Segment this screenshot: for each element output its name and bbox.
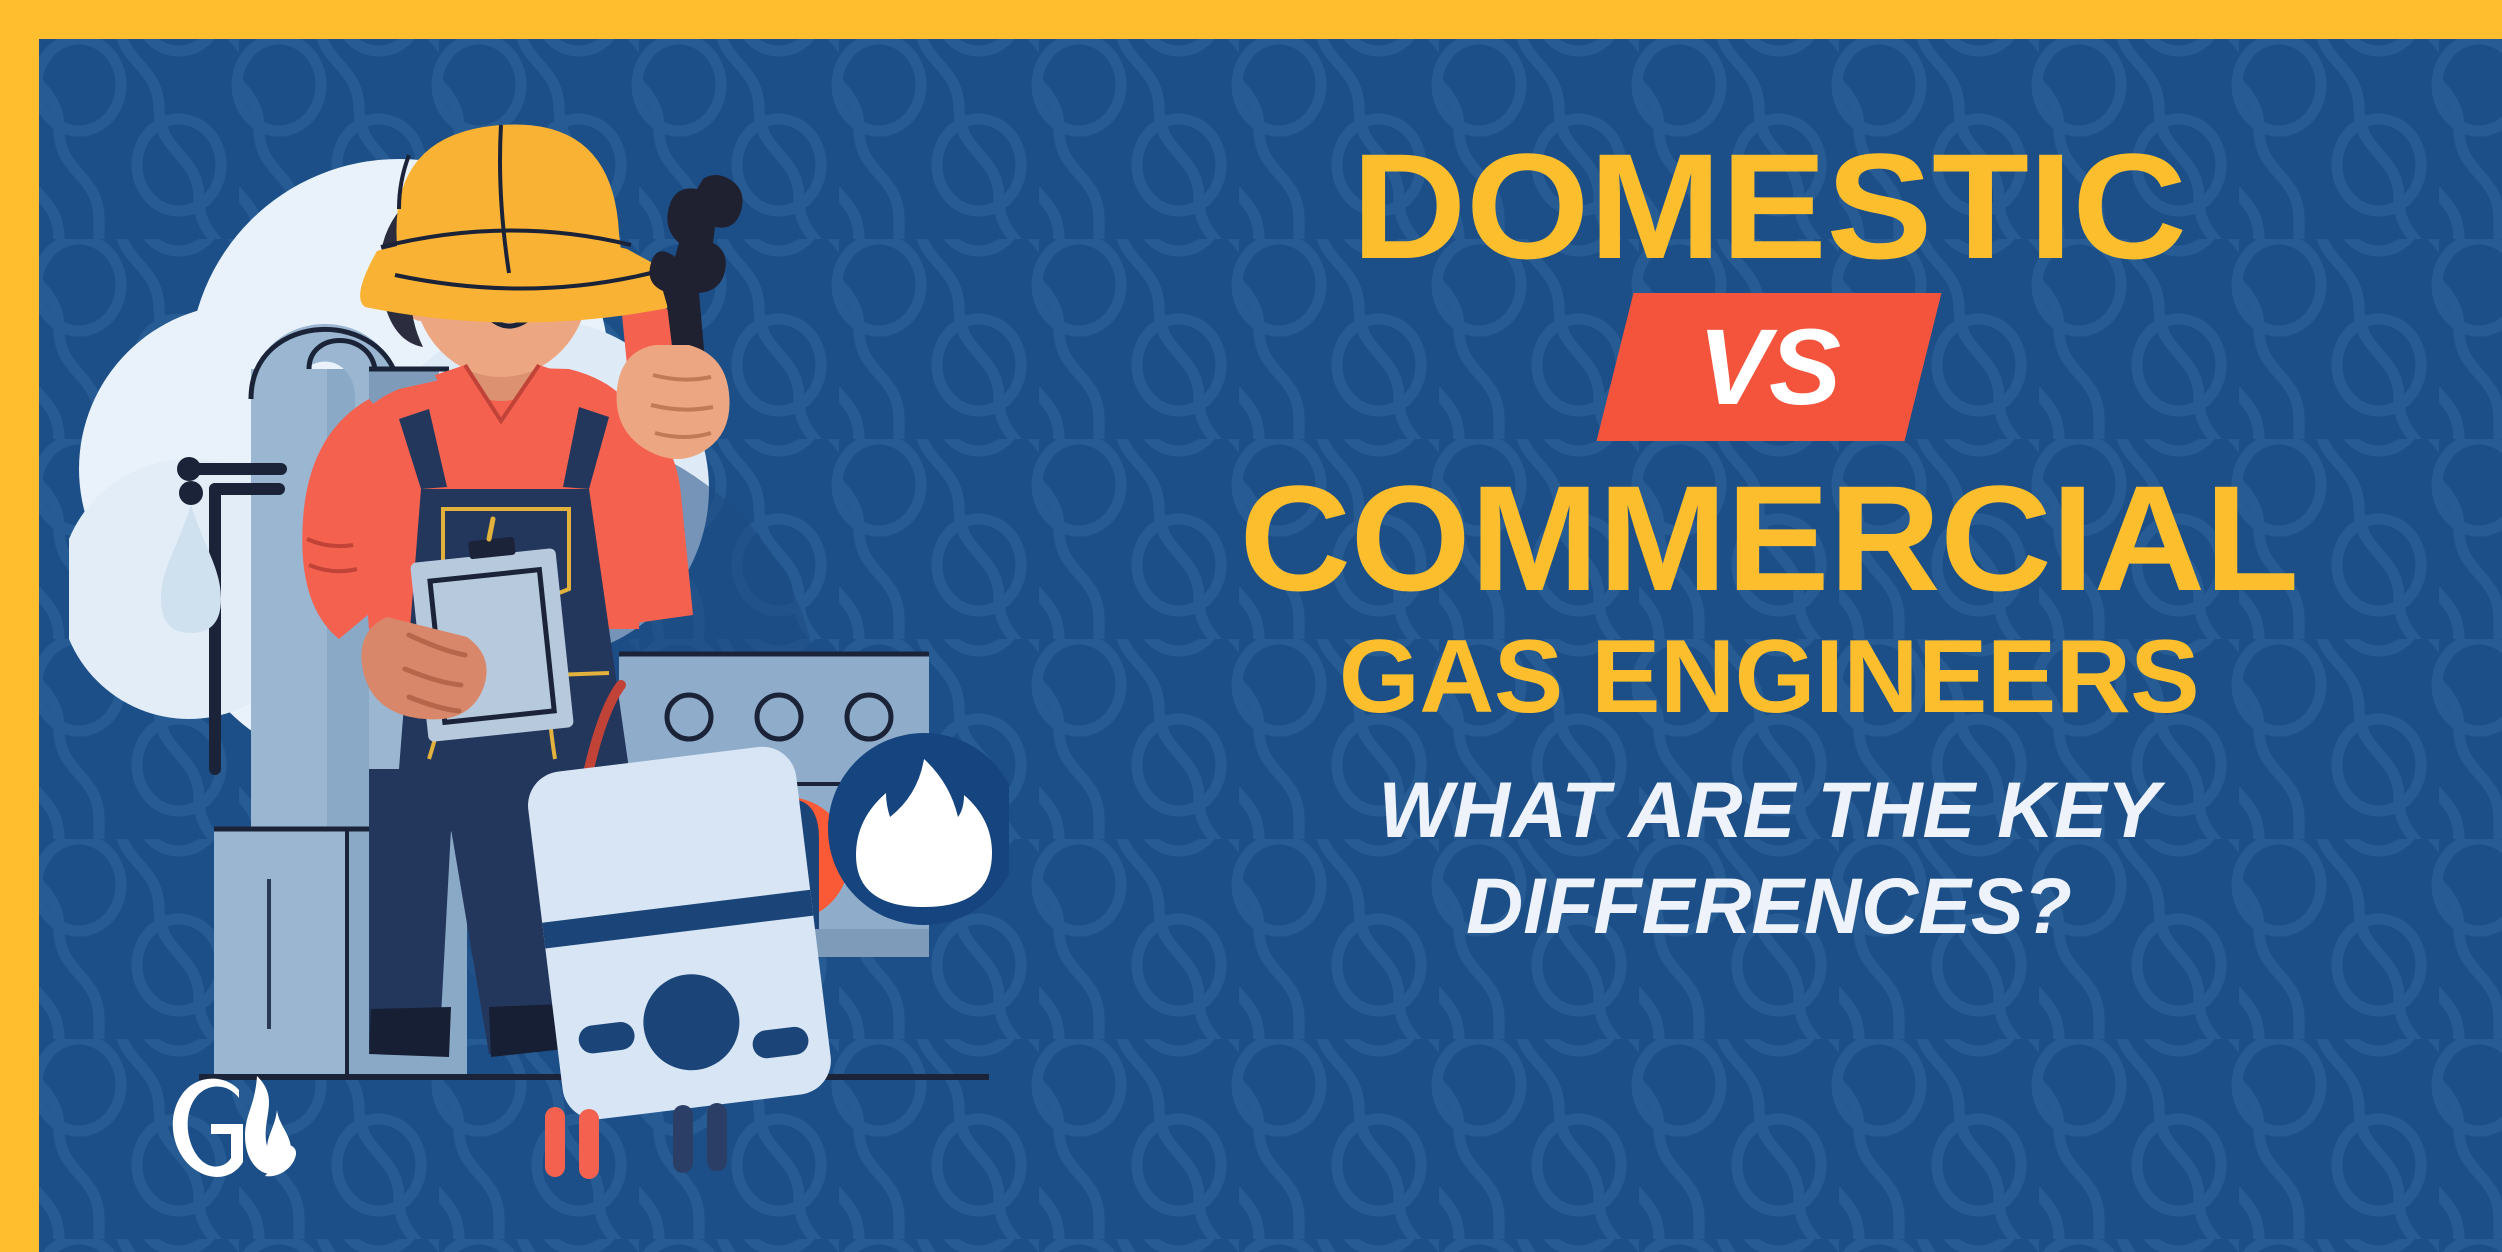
banner-canvas: DOMESTIC VS COMMERCIAL GAS ENGINEERS WHA… bbox=[39, 39, 2502, 1252]
subtitle-line-1: WHAT ARE THE KEY bbox=[1069, 762, 2469, 858]
vs-badge-wrap: VS bbox=[1069, 292, 2469, 442]
hard-hat bbox=[360, 124, 695, 322]
banner-root: DOMESTIC VS COMMERCIAL GAS ENGINEERS WHA… bbox=[0, 0, 2502, 1252]
vs-badge: VS bbox=[1597, 293, 1942, 441]
gas-flame-logo bbox=[159, 1054, 309, 1204]
vs-label: VS bbox=[1698, 313, 1840, 421]
headline-line-gas-engineers: GAS ENGINEERS bbox=[1069, 628, 2469, 728]
headline-line-domestic: DOMESTIC bbox=[1027, 134, 2502, 278]
subtitle-line-2: DIFFERENCES? bbox=[1069, 858, 2469, 954]
logo-letter-g bbox=[173, 1079, 243, 1177]
boiler-unit bbox=[524, 743, 835, 1123]
headline-block: DOMESTIC VS COMMERCIAL GAS ENGINEERS WHA… bbox=[1069, 134, 2469, 1034]
headline-line-commercial: COMMERCIAL bbox=[1048, 466, 2490, 610]
